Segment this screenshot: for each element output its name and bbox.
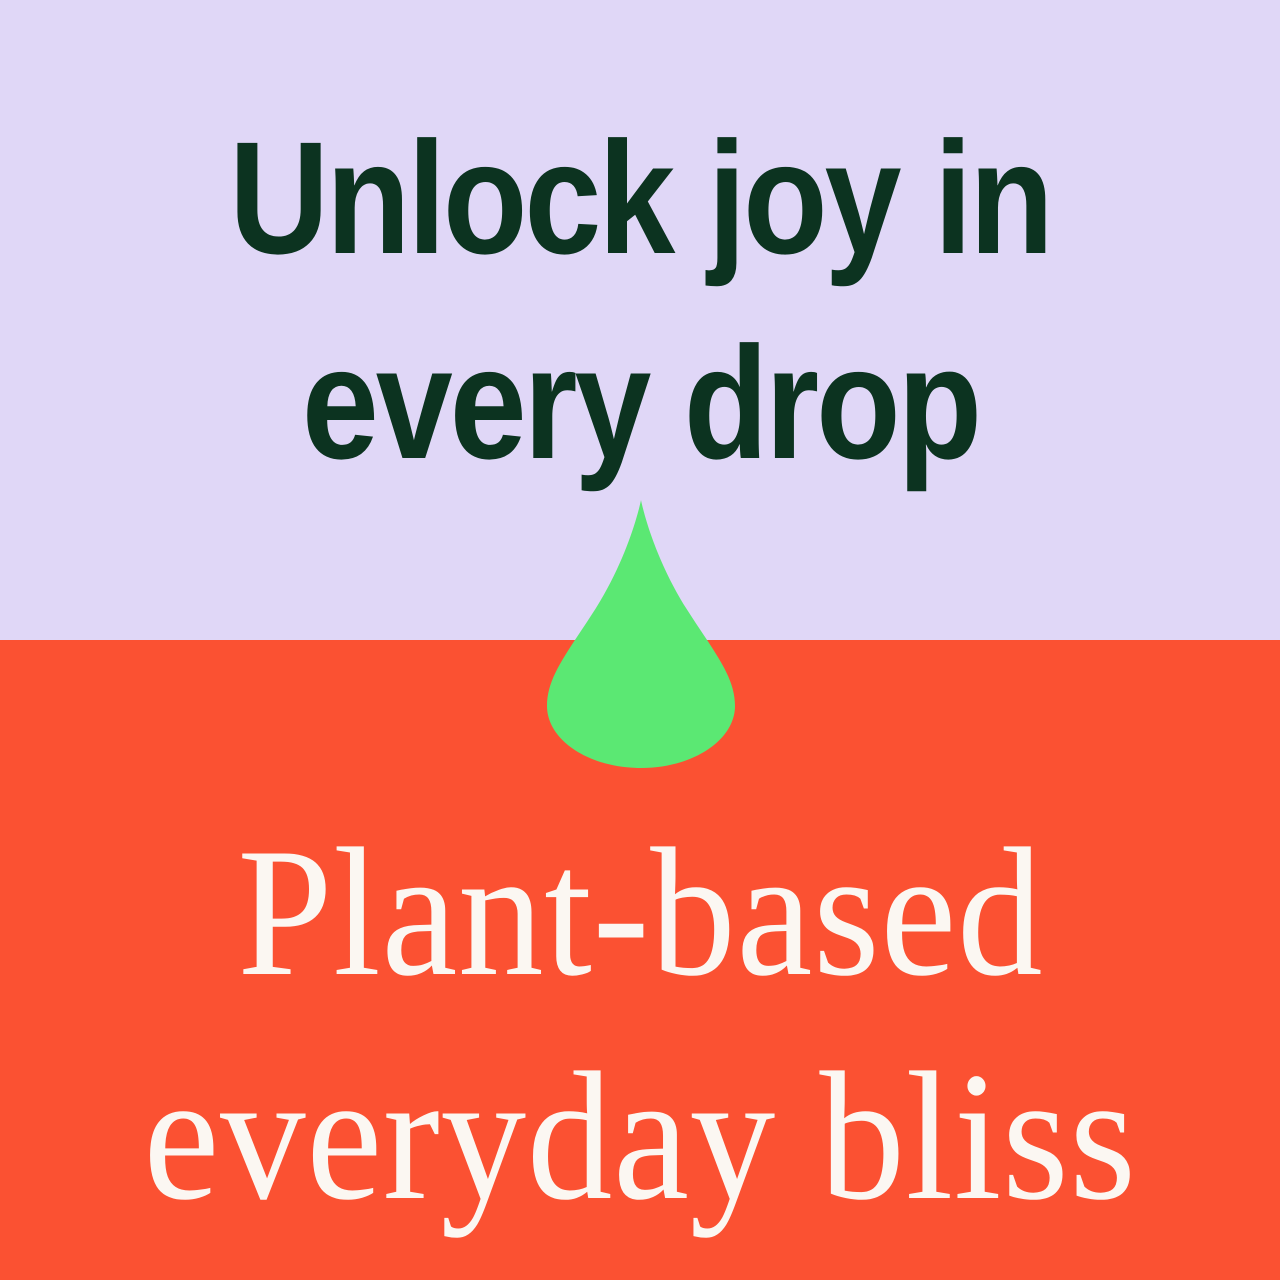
water-droplet-icon [547, 500, 735, 768]
poster-canvas: Unlock joy in every drop Plant-based eve… [0, 0, 1280, 1280]
